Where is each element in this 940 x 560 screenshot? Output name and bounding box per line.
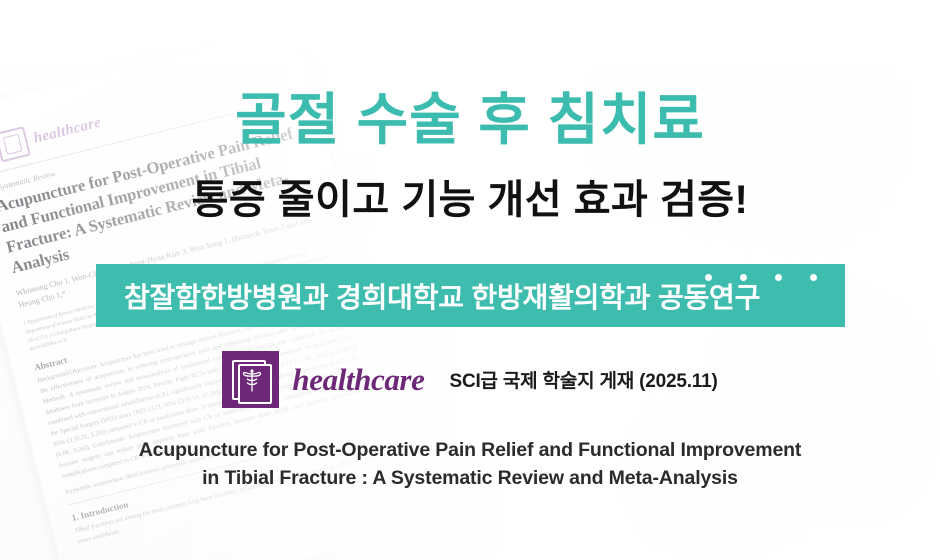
- journal-logo-row: healthcare SCI급 국제 학술지 게재 (2025.11): [0, 351, 940, 408]
- banner-dot: [775, 274, 782, 281]
- headline-secondary: 통증 줄이고 기능 개선 효과 검증!: [0, 180, 940, 220]
- banner-dot: [810, 274, 817, 281]
- banner-dots: [705, 274, 817, 281]
- paper-subtitle-line-2: in Tibial Fracture : A Systematic Review…: [0, 465, 940, 493]
- paper-subtitle: Acupuncture for Post-Operative Pain Reli…: [0, 437, 940, 492]
- banner-dot: [705, 274, 712, 281]
- publication-caption: SCI급 국제 학술지 게재 (2025.11): [449, 366, 717, 393]
- promo-card: healthcare Systematic Review Acupuncture…: [0, 0, 940, 560]
- collaboration-banner-text: 참잘함한방병원과 경희대학교 한방재활의학과 공동연구: [124, 276, 760, 316]
- journal-name: healthcare: [292, 364, 424, 395]
- caduceus-book-icon: [222, 351, 279, 408]
- banner-dot: [740, 274, 747, 281]
- headline-primary: 골절 수술 후 침치료: [0, 92, 940, 148]
- caduceus-glyph: [242, 368, 262, 394]
- collaboration-banner: 참잘함한방병원과 경희대학교 한방재활의학과 공동연구: [96, 264, 845, 327]
- paper-subtitle-line-1: Acupuncture for Post-Operative Pain Reli…: [0, 437, 940, 465]
